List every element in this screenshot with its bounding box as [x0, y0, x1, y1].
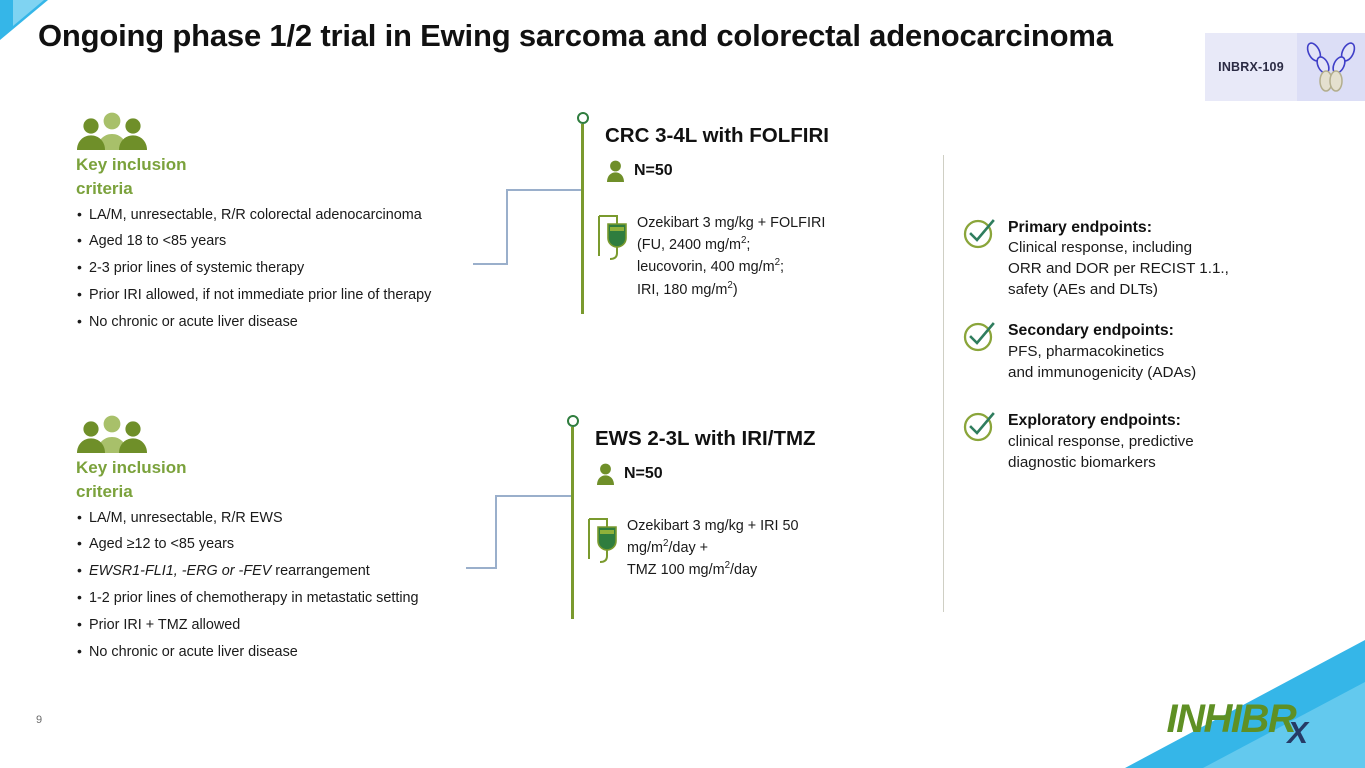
endpoint-title: Exploratory endpoints:	[1008, 410, 1194, 431]
endpoint-title: Primary endpoints:	[1008, 217, 1229, 238]
inclusion-heading-ews: Key inclusioncriteria	[76, 456, 506, 505]
arm-dose-text-ews: Ozekibart 3 mg/kg + IRI 50mg/m2/day +TMZ…	[627, 515, 799, 582]
page-number: 9	[36, 714, 42, 726]
check-circle-icon	[962, 216, 996, 250]
arm-n-label-crc: N=50	[634, 162, 673, 180]
brand-logo: INHIBR X	[1167, 697, 1307, 742]
arm-dose-ews: Ozekibart 3 mg/kg + IRI 50mg/m2/day +TMZ…	[585, 515, 799, 582]
brand-name-main: INHIBR	[1167, 697, 1296, 742]
endpoint-primary: Primary endpoints: Clinical response, in…	[962, 216, 1292, 301]
arm-title-crc: CRC 3-4L with FOLFIRI	[605, 124, 829, 148]
inclusion-block-crc: Key inclusioncriteria LA/M, unresectable…	[76, 112, 496, 342]
list-item: Prior IRI + TMZ allowed	[76, 618, 506, 634]
list-item: LA/M, unresectable, R/R EWS	[76, 511, 506, 527]
inclusion-list-crc: LA/M, unresectable, R/R colorectal adeno…	[76, 208, 496, 331]
slide-canvas: Ongoing phase 1/2 trial in Ewing sarcoma…	[0, 0, 1365, 768]
list-item: Prior IRI allowed, if not immediate prio…	[76, 288, 496, 304]
brand-name-sub: X	[1287, 715, 1307, 751]
arm-enrollment-ews: N=50	[597, 463, 663, 485]
product-badge-label: INBRX-109	[1205, 60, 1297, 74]
product-badge: INBRX-109	[1205, 33, 1365, 101]
list-item: Aged ≥12 to <85 years	[76, 537, 506, 553]
list-item: LA/M, unresectable, R/R colorectal adeno…	[76, 208, 496, 224]
slide-title: Ongoing phase 1/2 trial in Ewing sarcoma…	[38, 18, 1113, 54]
connector-ews	[463, 488, 583, 580]
inclusion-heading-crc: Key inclusioncriteria	[76, 153, 496, 202]
arm-rail-ews	[571, 427, 574, 619]
endpoint-text: PFS, pharmacokinetics and immunogenicity…	[1008, 342, 1196, 384]
check-circle-icon	[962, 319, 996, 353]
person-icon	[607, 160, 624, 182]
list-item: EWSR1-FLI1, -ERG or -FEV rearrangement	[76, 564, 506, 580]
person-icon	[597, 463, 614, 485]
arm-title-ews: EWS 2-3L with IRI/TMZ	[595, 427, 816, 451]
endpoint-title: Secondary endpoints:	[1008, 320, 1196, 341]
arm-n-label-ews: N=50	[624, 465, 663, 483]
arm-dose-crc: Ozekibart 3 mg/kg + FOLFIRI(FU, 2400 mg/…	[595, 212, 825, 301]
arm-ews: EWS 2-3L with IRI/TMZ N=50 Ozekibart 3 m…	[571, 415, 911, 615]
people-group-icon	[76, 415, 148, 453]
check-circle-icon	[962, 409, 996, 443]
arm-crc: CRC 3-4L with FOLFIRI N=50 Ozekibart 3 m…	[581, 112, 921, 312]
list-item: No chronic or acute liver disease	[76, 315, 496, 331]
iv-drip-icon	[585, 515, 619, 567]
vertical-divider	[943, 155, 944, 612]
endpoint-text: clinical response, predictive diagnostic…	[1008, 432, 1194, 474]
endpoint-exploratory: Exploratory endpoints: clinical response…	[962, 409, 1292, 473]
arm-rail-crc	[581, 124, 584, 314]
list-item: 1-2 prior lines of chemotherapy in metas…	[76, 591, 506, 607]
arm-start-dot-ews	[567, 415, 579, 427]
arm-enrollment-crc: N=50	[607, 160, 673, 182]
antibody-icon	[1297, 33, 1365, 101]
arm-start-dot-crc	[577, 112, 589, 124]
list-item: Aged 18 to <85 years	[76, 234, 496, 250]
endpoint-text: Clinical response, including ORR and DOR…	[1008, 238, 1229, 301]
list-item: No chronic or acute liver disease	[76, 645, 506, 661]
iv-drip-icon	[595, 212, 629, 264]
connector-crc	[470, 182, 590, 274]
inclusion-block-ews: Key inclusioncriteria LA/M, unresectable…	[76, 415, 506, 672]
arm-dose-text-crc: Ozekibart 3 mg/kg + FOLFIRI(FU, 2400 mg/…	[637, 212, 825, 301]
inclusion-list-ews: LA/M, unresectable, R/R EWS Aged ≥12 to …	[76, 511, 506, 661]
list-item: 2-3 prior lines of systemic therapy	[76, 261, 496, 277]
endpoints-panel: Primary endpoints: Clinical response, in…	[962, 216, 1292, 492]
gene-rearrangement-italic: EWSR1-FLI1, -ERG or -FEV	[89, 563, 271, 579]
endpoint-secondary: Secondary endpoints: PFS, pharmacokineti…	[962, 319, 1292, 383]
gene-rearrangement-tail: rearrangement	[271, 563, 369, 579]
people-group-icon	[76, 112, 148, 150]
